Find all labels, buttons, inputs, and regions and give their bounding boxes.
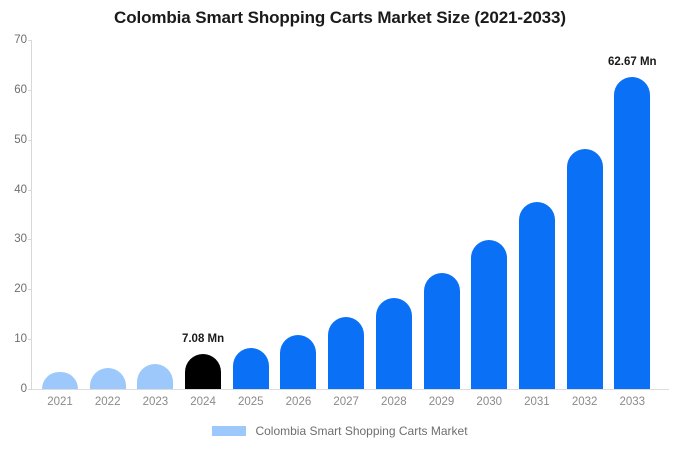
bar-2025[interactable] (233, 40, 269, 389)
bar-rect-2029[interactable] (424, 273, 460, 389)
bar-rect-2027[interactable] (328, 317, 364, 389)
bar-value-label-2033: 62.67 Mn (608, 56, 657, 68)
bar-2028[interactable] (376, 40, 412, 389)
bar-2023[interactable] (137, 40, 173, 389)
y-axis-tick-label: 20 (1, 283, 27, 295)
bar-rect-2033[interactable] (614, 77, 650, 389)
bar-rect-2030[interactable] (471, 240, 507, 389)
bar-2021[interactable] (42, 40, 78, 389)
y-axis-tick-label: 60 (1, 84, 27, 96)
y-axis-tick-label: 40 (1, 184, 27, 196)
bar-2027[interactable] (328, 40, 364, 389)
y-axis-tick-mark (28, 239, 32, 240)
bar-rect-2028[interactable] (376, 298, 412, 389)
y-axis-tick-mark (28, 389, 32, 390)
y-axis: 010203040506070 (0, 0, 27, 450)
bar-rect-2023[interactable] (137, 364, 173, 389)
y-axis-tick-label: 70 (1, 34, 27, 46)
y-axis-tick-label: 30 (1, 233, 27, 245)
bar-value-label-2024: 7.08 Mn (182, 333, 224, 345)
y-axis-tick-label: 10 (1, 333, 27, 345)
bar-2026[interactable] (280, 40, 316, 389)
bar-2029[interactable] (424, 40, 460, 389)
bar-rect-2026[interactable] (280, 335, 316, 389)
bar-2024[interactable]: 7.08 Mn (185, 40, 221, 389)
plot-area: 7.08 Mn62.67 Mn (31, 40, 669, 389)
y-axis-tick-mark (28, 140, 32, 141)
bar-rect-2022[interactable] (90, 368, 126, 389)
bar-rect-2032[interactable] (567, 149, 603, 389)
y-axis-tick-label: 0 (1, 383, 27, 395)
chart-legend: Colombia Smart Shopping Carts Market (0, 424, 680, 438)
y-axis-tick-label: 50 (1, 134, 27, 146)
legend-label-colombia-smart-shopping-carts-market: Colombia Smart Shopping Carts Market (255, 424, 467, 438)
x-axis-tick-label-2033: 2033 (602, 396, 662, 408)
bar-rect-2025[interactable] (233, 348, 269, 389)
bar-2022[interactable] (90, 40, 126, 389)
y-axis-tick-mark (28, 289, 32, 290)
y-axis-tick-mark (28, 90, 32, 91)
bar-2030[interactable] (471, 40, 507, 389)
bar-rect-2031[interactable] (519, 202, 555, 389)
x-axis-line (31, 389, 669, 390)
bar-rect-2024[interactable] (185, 354, 221, 389)
legend-swatch-colombia-smart-shopping-carts-market (212, 426, 246, 436)
bar-2033[interactable]: 62.67 Mn (614, 40, 650, 389)
bar-rect-2021[interactable] (42, 372, 78, 389)
y-axis-tick-mark (28, 339, 32, 340)
y-axis-tick-mark (28, 40, 32, 41)
bar-2031[interactable] (519, 40, 555, 389)
chart-container: Colombia Smart Shopping Carts Market Siz… (0, 0, 680, 450)
bar-2032[interactable] (567, 40, 603, 389)
y-axis-tick-mark (28, 190, 32, 191)
chart-title: Colombia Smart Shopping Carts Market Siz… (0, 8, 680, 28)
